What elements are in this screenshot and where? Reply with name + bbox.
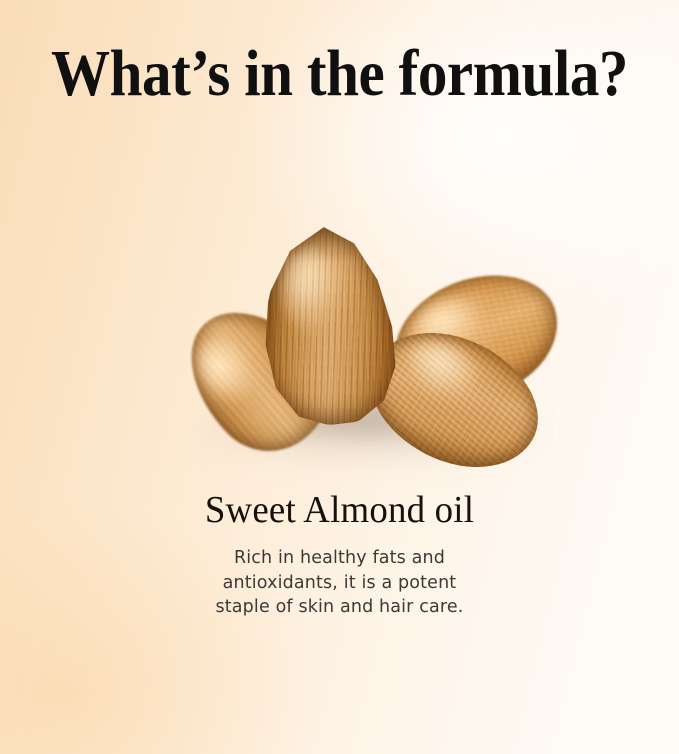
- description-line-2: antioxidants, it is a potent: [0, 571, 679, 596]
- ingredient-description: Rich in healthy fats and antioxidants, i…: [0, 546, 679, 620]
- description-line-1: Rich in healthy fats and: [0, 546, 679, 571]
- page-title: What’s in the formula?: [36, 40, 644, 108]
- ingredient-title: Sweet Almond oil: [10, 489, 669, 531]
- ingredient-image: [170, 195, 570, 475]
- description-line-3: staple of skin and hair care.: [0, 595, 679, 620]
